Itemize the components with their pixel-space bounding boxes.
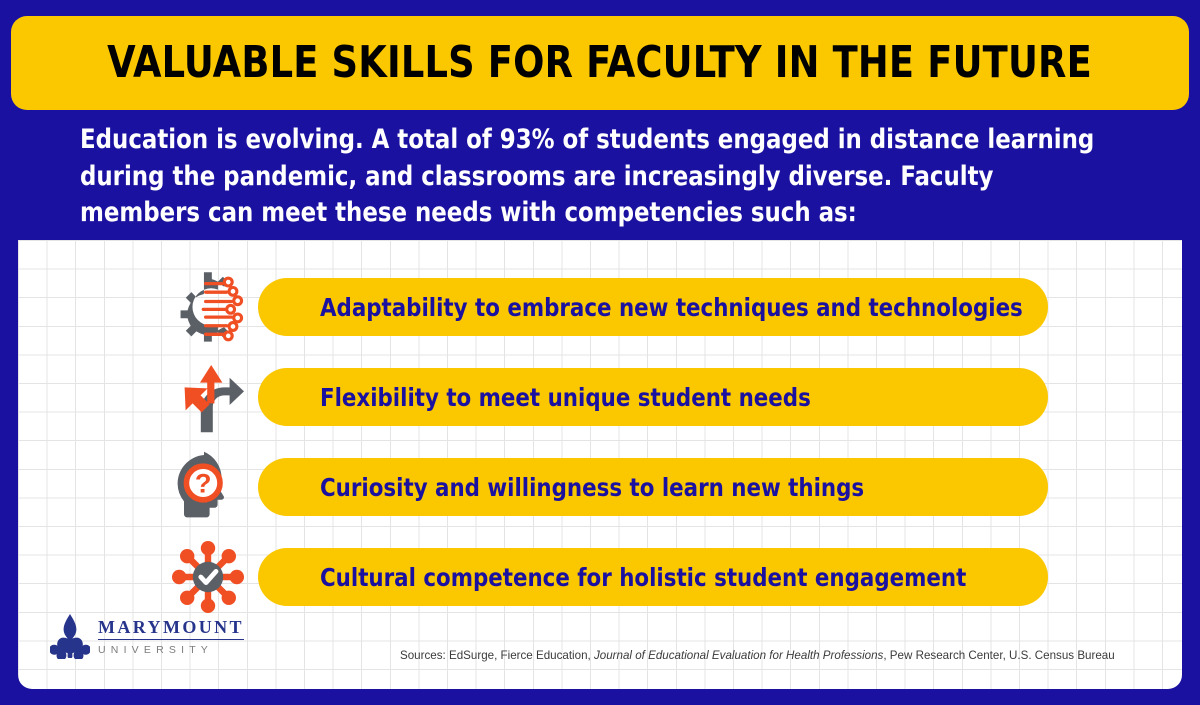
infographic-root: VALUABLE SKILLS FOR FACULTY IN THE FUTUR… (0, 0, 1200, 705)
logo-subtitle: UNIVERSITY (98, 640, 244, 659)
skill-label: Curiosity and willingness to learn new t… (320, 473, 864, 502)
sources-journal: Journal of Educational Evaluation for He… (594, 649, 883, 662)
gear-circuit-icon (160, 262, 256, 352)
sources-suffix: , Pew Research Center, U.S. Census Burea… (883, 649, 1114, 662)
skill-pill: Cultural competence for holistic student… (258, 548, 1048, 606)
sources-line: Sources: EdSurge, Fierce Education, Jour… (400, 649, 1170, 662)
marymount-logo: MARYMOUNT UNIVERSITY (50, 613, 244, 664)
skill-label: Flexibility to meet unique student needs (320, 383, 811, 412)
skill-label: Cultural competence for holistic student… (320, 563, 966, 592)
content-panel: Adaptability to embrace new techniques a… (18, 240, 1182, 689)
skill-pill: Flexibility to meet unique student needs (258, 368, 1048, 426)
intro-block: Education is evolving. A total of 93% of… (80, 122, 1150, 232)
skill-pill: Adaptability to embrace new techniques a… (258, 278, 1048, 336)
intro-paragraph: Education is evolving. A total of 93% of… (80, 122, 1107, 232)
logo-name: MARYMOUNT (98, 618, 244, 640)
skill-row: Flexibility to meet unique student needs (18, 352, 1182, 442)
svg-text:?: ? (195, 468, 212, 499)
logo-wordmark: MARYMOUNT UNIVERSITY (98, 618, 244, 659)
header-bar: VALUABLE SKILLS FOR FACULTY IN THE FUTUR… (11, 16, 1189, 110)
page-title: VALUABLE SKILLS FOR FACULTY IN THE FUTUR… (108, 41, 1093, 85)
network-checkmark-icon (160, 532, 256, 622)
head-question-mark-icon: ? (160, 442, 256, 532)
fleur-de-lis-icon (50, 613, 90, 664)
branching-arrows-icon (160, 352, 256, 442)
skill-label: Adaptability to embrace new techniques a… (320, 293, 1023, 322)
skill-row: ? Curiosity and willingness to learn new… (18, 442, 1182, 532)
skill-row: Adaptability to embrace new techniques a… (18, 262, 1182, 352)
skill-pill: Curiosity and willingness to learn new t… (258, 458, 1048, 516)
sources-prefix: Sources: EdSurge, Fierce Education, (400, 649, 594, 662)
skill-row: Cultural competence for holistic student… (18, 532, 1182, 622)
